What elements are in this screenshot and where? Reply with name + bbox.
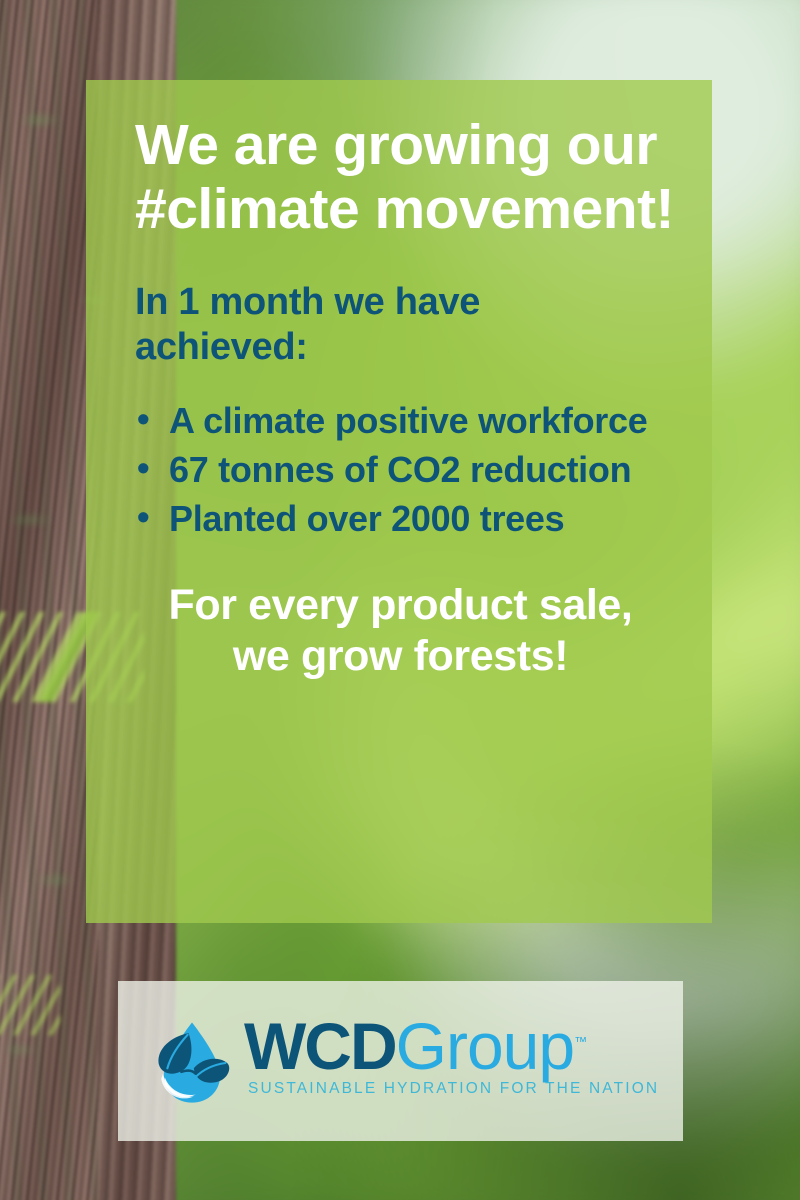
subheading-line-1: In 1 month we have bbox=[135, 281, 480, 323]
subheading: In 1 month we have achieved: bbox=[135, 280, 690, 371]
achievement-text: Planted over 2000 trees bbox=[169, 498, 564, 539]
logo-word-secondary: Group bbox=[396, 1009, 574, 1083]
logo-word-primary: WCD bbox=[244, 1009, 396, 1083]
poster-canvas: We are growing our #climate movement! In… bbox=[0, 0, 800, 1200]
background-leaf-sprig-lower bbox=[0, 975, 60, 1035]
water-droplet-leaf-icon bbox=[148, 1019, 236, 1107]
logo-tagline: SUSTAINABLE HYDRATION FOR THE NATION bbox=[248, 1080, 659, 1098]
list-item: 67 tonnes of CO2 reduction bbox=[135, 448, 690, 491]
logo-panel: WCDGroup™ SUSTAINABLE HYDRATION FOR THE … bbox=[118, 981, 683, 1141]
trademark-symbol: ™ bbox=[574, 1034, 587, 1049]
achievement-text: A climate positive workforce bbox=[169, 400, 647, 441]
logo-wordmark: WCDGroup™ bbox=[244, 1015, 659, 1078]
logo-wordmark-block: WCDGroup™ SUSTAINABLE HYDRATION FOR THE … bbox=[244, 1015, 659, 1098]
brand-logo: WCDGroup™ SUSTAINABLE HYDRATION FOR THE … bbox=[148, 1015, 659, 1107]
content-panel: We are growing our #climate movement! In… bbox=[86, 80, 712, 923]
list-item: Planted over 2000 trees bbox=[135, 497, 690, 540]
headline-line-2: #climate movement! bbox=[135, 177, 674, 241]
headline-line-1: We are growing our bbox=[135, 113, 657, 177]
achievement-text: 67 tonnes of CO2 reduction bbox=[169, 449, 631, 490]
list-item: A climate positive workforce bbox=[135, 399, 690, 442]
page-title: We are growing our #climate movement! bbox=[135, 114, 690, 242]
subheading-line-2: achieved: bbox=[135, 326, 308, 368]
closing-statement: For every product sale, we grow forests! bbox=[135, 580, 690, 681]
achievements-list: A climate positive workforce 67 tonnes o… bbox=[135, 399, 690, 541]
closing-line-1: For every product sale, bbox=[169, 581, 633, 629]
closing-line-2: we grow forests! bbox=[233, 632, 568, 680]
